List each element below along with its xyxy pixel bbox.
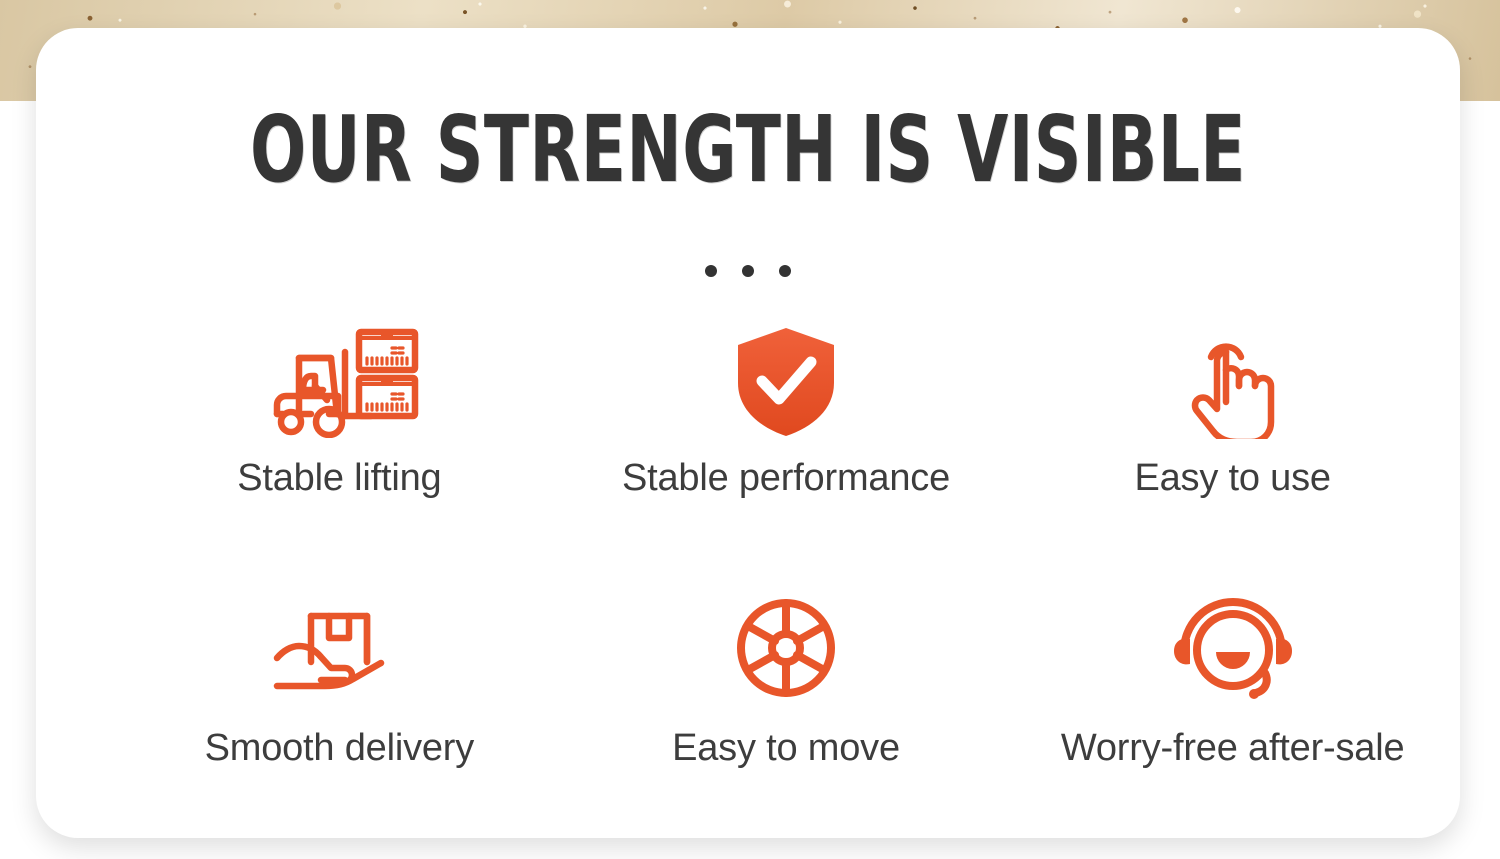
feature-grid: Stable lifting [116, 324, 1456, 775]
feature-item-easy-to-use: Easy to use [1009, 324, 1456, 509]
feature-label: Worry-free after-sale [1061, 727, 1405, 770]
feature-item-stable-lifting: Stable lifting [116, 324, 563, 509]
feature-label: Easy to move [672, 727, 900, 770]
headset-support-icon [1170, 590, 1296, 705]
feature-item-easy-to-move: Easy to move [563, 590, 1010, 775]
feature-label: Smooth delivery [205, 727, 474, 770]
wheel-icon [734, 590, 838, 705]
tap-hand-icon [1184, 324, 1282, 439]
feature-label: Stable lifting [237, 457, 441, 500]
three-dot-divider [36, 265, 1460, 277]
feature-item-smooth-delivery: Smooth delivery [116, 590, 563, 775]
feature-item-worry-free-after-sale: Worry-free after-sale [1009, 590, 1456, 775]
divider-dot [779, 265, 791, 277]
feature-label: Easy to use [1134, 457, 1330, 500]
forklift-icon [259, 324, 419, 439]
content-card: OUR STRENGTH IS VISIBLE [36, 28, 1460, 838]
page-title: OUR STRENGTH IS VISIBLE [178, 104, 1317, 196]
promo-banner: OUR STRENGTH IS VISIBLE [0, 0, 1500, 859]
divider-dot [705, 265, 717, 277]
divider-dot [742, 265, 754, 277]
shield-check-icon [734, 324, 838, 439]
feature-label: Stable performance [622, 457, 950, 500]
feature-item-stable-performance: Stable performance [563, 324, 1010, 509]
hand-package-icon [271, 590, 407, 705]
